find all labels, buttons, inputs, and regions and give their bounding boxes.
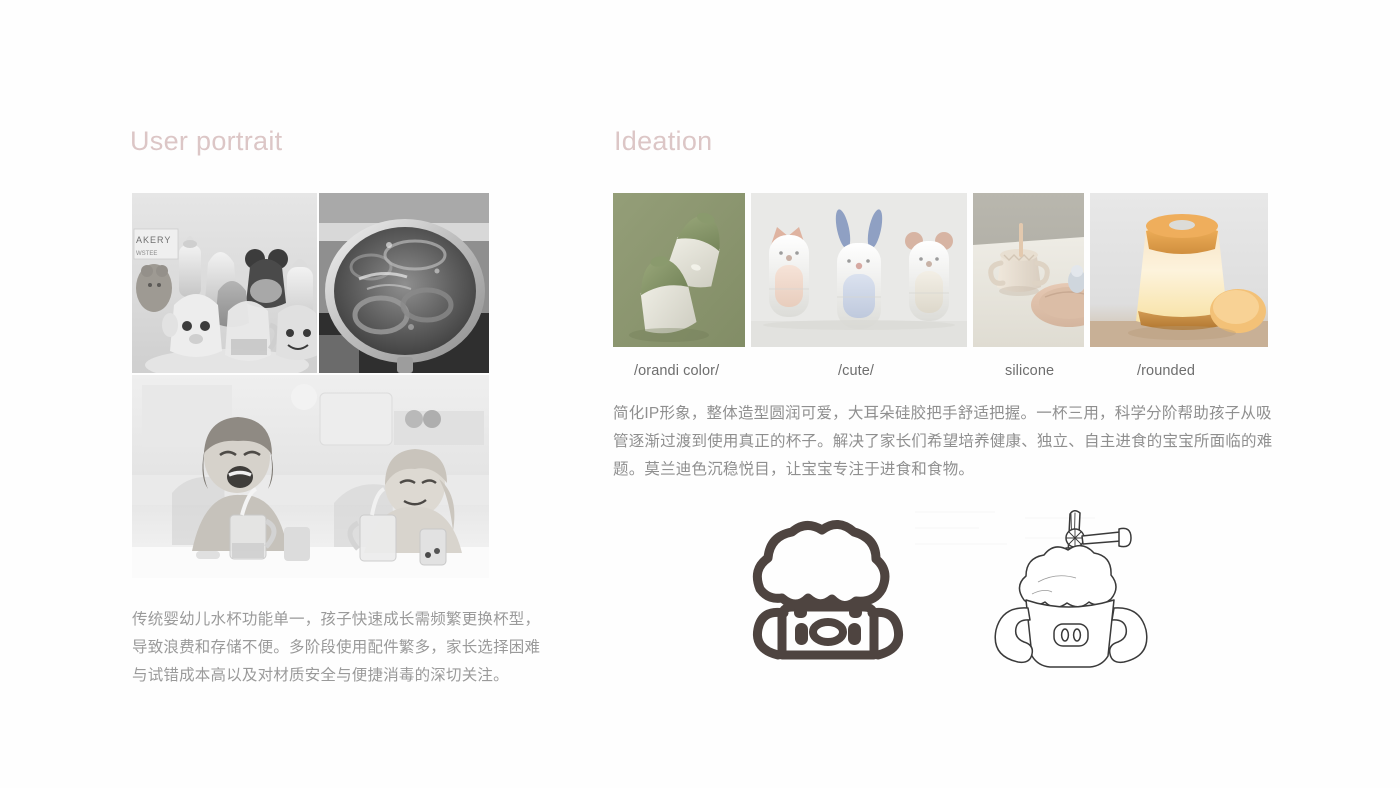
reference-label-rounded: /rounded (1137, 363, 1195, 379)
reference-rounded (1090, 193, 1268, 347)
ideation-reference-strip (613, 193, 1268, 347)
user-portrait-collage: AKERY WSTEE (132, 193, 489, 578)
sketch-cloud-character (742, 503, 914, 675)
ideation-caption: 简化IP形象，整体造型圆润可爱，大耳朵硅胶把手舒适把握。一杯三用，科学分阶帮助孩… (613, 400, 1281, 484)
user-portrait-caption: 传统婴幼儿水杯功能单一，孩子快速成长需频繁更换杯型，导致浪费和存储不便。多阶段使… (132, 606, 544, 690)
section-title-user-portrait: User portrait (130, 126, 282, 157)
assorted-sippy-cups-photo: AKERY WSTEE (132, 193, 317, 373)
svg-text:WSTEE: WSTEE (136, 251, 157, 257)
reference-label-orandi-color: /orandi color/ (634, 363, 719, 379)
reference-label-cute: /cute/ (838, 363, 874, 379)
reference-silicone (973, 193, 1084, 347)
reference-orandi-color (613, 193, 745, 347)
svg-text:AKERY: AKERY (136, 235, 171, 245)
sketch-cup-concept (982, 496, 1160, 674)
reference-label-silicone: silicone (1005, 363, 1054, 379)
ideation-reference-labels: /orandi color/ /cute/ silicone /rounded (613, 363, 1283, 383)
slide-canvas: User portrait (0, 0, 1400, 788)
children-drinking-photo (132, 375, 489, 578)
section-title-ideation: Ideation (614, 126, 712, 157)
reference-cute (751, 193, 967, 347)
sterilizing-pot-photo (319, 193, 489, 373)
